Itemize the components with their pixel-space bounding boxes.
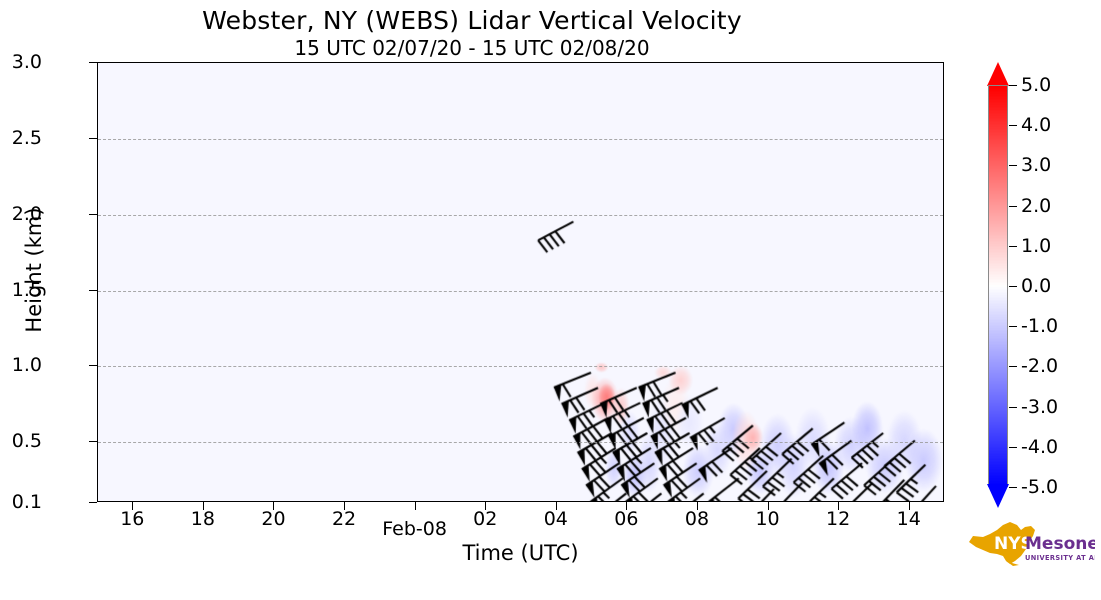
gridline <box>98 366 943 367</box>
page-title: Webster, NY (WEBS) Lidar Vertical Veloci… <box>0 6 944 35</box>
colorbar-extend-max-arrow <box>987 62 1009 86</box>
colorbar-tick-mark <box>1009 165 1017 166</box>
logo-mesonet-text: Mesonet <box>1025 534 1095 554</box>
colorbar-tick-mark <box>1009 407 1017 408</box>
colorbar-tick-mark <box>1009 286 1017 287</box>
colorbar-tick-label: 0.0 <box>1021 277 1051 296</box>
y-axis-tick-mark <box>89 214 97 215</box>
y-axis-tick-mark <box>89 441 97 442</box>
colorbar-tick-label: 1.0 <box>1021 237 1051 256</box>
nys-mesonet-logo: NYS Mesonet UNIVERSITY AT ALBANY <box>963 516 1095 574</box>
x-axis-label: Time (UTC) <box>97 541 944 565</box>
colorbar: 5.04.03.02.01.00.0-1.0-2.0-3.0-4.0-5.0 <box>988 62 1008 508</box>
colorbar-tick-mark <box>1009 206 1017 207</box>
colorbar-tick-mark <box>1009 246 1017 247</box>
chart-subtitle: 15 UTC 02/07/20 - 15 UTC 02/08/20 <box>0 36 944 60</box>
colorbar-tick-mark <box>1009 366 1017 367</box>
colorbar-tick-mark <box>1009 487 1017 488</box>
gridline <box>98 291 943 292</box>
colorbar-tick-mark <box>1009 326 1017 327</box>
y-axis-label: Height (km) <box>22 50 46 490</box>
logo-tagline-text: UNIVERSITY AT ALBANY <box>1025 554 1095 562</box>
colorbar-extend-min-arrow <box>987 484 1009 508</box>
colorbar-tick-label: 2.0 <box>1021 197 1051 216</box>
y-axis-tick-mark <box>89 138 97 139</box>
plot-area <box>97 62 944 502</box>
colorbar-tick-label: 5.0 <box>1021 76 1051 95</box>
logo-graphic: NYS Mesonet UNIVERSITY AT ALBANY <box>963 516 1095 574</box>
gridline <box>98 442 943 443</box>
colorbar-tick-label: -1.0 <box>1021 317 1058 336</box>
vertical-velocity-heatmap <box>98 63 943 501</box>
y-axis-tick-mark <box>89 290 97 291</box>
colorbar-gradient <box>988 85 1008 487</box>
colorbar-tick-label: 3.0 <box>1021 156 1051 175</box>
colorbar-tick-mark <box>1009 85 1017 86</box>
x-axis-tick-label: 14 <box>864 510 954 529</box>
y-axis-tick-label: 0.1 <box>0 493 42 512</box>
y-axis-tick-mark <box>89 502 97 503</box>
colorbar-tick-label: -4.0 <box>1021 438 1058 457</box>
gridline <box>98 215 943 216</box>
colorbar-tick-mark <box>1009 447 1017 448</box>
colorbar-tick-mark <box>1009 125 1017 126</box>
y-axis-tick-mark <box>89 365 97 366</box>
x-axis-tick-mark <box>415 502 416 510</box>
colorbar-tick-label: -3.0 <box>1021 398 1058 417</box>
colorbar-tick-label: -2.0 <box>1021 357 1058 376</box>
gridline <box>98 139 943 140</box>
colorbar-tick-label: -5.0 <box>1021 478 1058 497</box>
y-axis-tick-mark <box>89 62 97 63</box>
colorbar-tick-label: 4.0 <box>1021 116 1051 135</box>
